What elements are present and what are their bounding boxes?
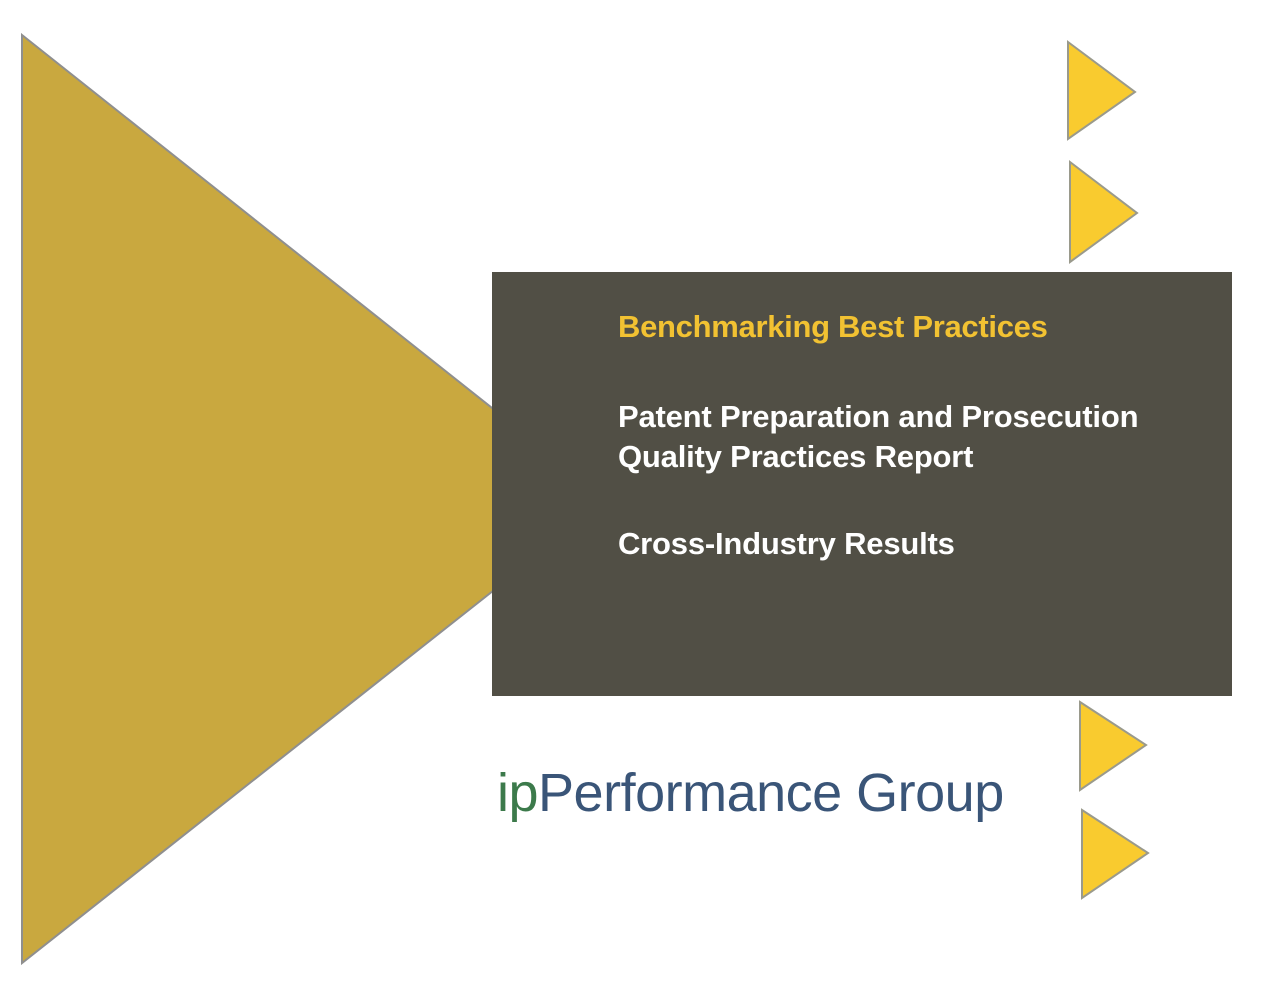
chevron-arrow-icon-1 (1060, 38, 1150, 143)
ipperformance-group-logo: ipPerformance Group (497, 766, 1004, 820)
chevron-arrow-icon-3 (1072, 698, 1162, 794)
chevron-arrow-icon-4 (1074, 806, 1164, 902)
title-panel-text-block: Benchmarking Best Practices Patent Prepa… (618, 310, 1188, 563)
chevron-arrow-icon-2 (1062, 158, 1152, 266)
kicker-text: Benchmarking Best Practices (618, 310, 1188, 345)
logo-prefix: ip (497, 763, 538, 823)
subline-text: Cross-Industry Results (618, 525, 1188, 562)
headline-text: Patent Preparation and Prosecution Quali… (618, 397, 1188, 478)
logo-name: Performance Group (538, 763, 1004, 823)
title-slide: Benchmarking Best Practices Patent Prepa… (0, 0, 1280, 989)
title-panel: Benchmarking Best Practices Patent Prepa… (492, 272, 1232, 696)
